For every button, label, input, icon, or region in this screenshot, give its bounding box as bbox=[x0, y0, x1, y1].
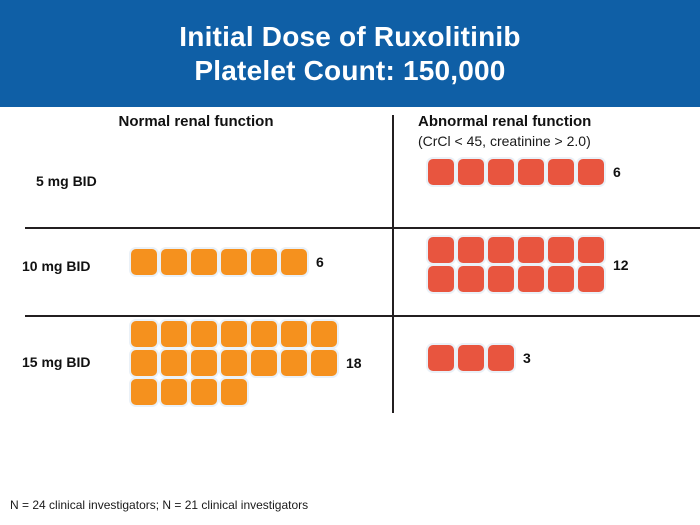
investigator-square bbox=[518, 266, 544, 292]
investigator-square bbox=[221, 249, 247, 275]
investigator-square bbox=[311, 350, 337, 376]
investigator-square bbox=[221, 321, 247, 347]
investigator-square bbox=[428, 159, 454, 185]
investigator-square bbox=[131, 350, 157, 376]
count-label-abnormal: 3 bbox=[523, 350, 531, 366]
square-grid-abnormal bbox=[428, 159, 604, 185]
row-label-dose: 5 mg BID bbox=[36, 173, 141, 189]
square-grid-abnormal bbox=[428, 237, 604, 292]
investigator-square bbox=[251, 321, 277, 347]
investigator-square bbox=[131, 379, 157, 405]
square-row bbox=[428, 345, 514, 371]
investigator-square bbox=[251, 249, 277, 275]
square-row bbox=[428, 237, 604, 263]
row-label-dose: 15 mg BID bbox=[22, 354, 127, 370]
square-row bbox=[131, 321, 337, 347]
table-row: 15 mg BID 18 3 bbox=[0, 317, 700, 417]
square-row bbox=[428, 159, 604, 185]
title-line-1: Initial Dose of Ruxolitinib bbox=[179, 20, 520, 54]
investigator-square bbox=[548, 266, 574, 292]
investigator-square bbox=[488, 237, 514, 263]
count-label-abnormal: 6 bbox=[613, 164, 621, 180]
investigator-square bbox=[428, 237, 454, 263]
investigator-square bbox=[488, 266, 514, 292]
investigator-square bbox=[161, 321, 187, 347]
investigator-square bbox=[131, 321, 157, 347]
investigator-square bbox=[281, 321, 307, 347]
investigator-square bbox=[161, 379, 187, 405]
pictogram-group-abnormal: 12 bbox=[428, 237, 629, 292]
count-label-abnormal: 12 bbox=[613, 257, 629, 273]
count-label-normal: 6 bbox=[316, 254, 324, 270]
investigator-square bbox=[191, 379, 217, 405]
investigator-square bbox=[311, 321, 337, 347]
investigator-square bbox=[548, 159, 574, 185]
table-row: 10 mg BID 6 12 bbox=[0, 229, 700, 315]
investigator-square bbox=[428, 345, 454, 371]
investigator-square bbox=[458, 237, 484, 263]
investigator-square bbox=[578, 237, 604, 263]
title-banner: Initial Dose of Ruxolitinib Platelet Cou… bbox=[0, 0, 700, 107]
investigator-square bbox=[161, 249, 187, 275]
investigator-square bbox=[191, 321, 217, 347]
pictogram-group-normal: 18 bbox=[131, 321, 362, 405]
square-grid-normal bbox=[131, 321, 337, 405]
square-row bbox=[428, 266, 604, 292]
investigator-square bbox=[578, 266, 604, 292]
investigator-square bbox=[518, 159, 544, 185]
investigator-square bbox=[458, 159, 484, 185]
square-grid-abnormal bbox=[428, 345, 514, 371]
square-row bbox=[131, 350, 337, 376]
investigator-square bbox=[221, 379, 247, 405]
investigator-square bbox=[191, 350, 217, 376]
investigator-square bbox=[488, 159, 514, 185]
investigator-square bbox=[458, 345, 484, 371]
investigator-square bbox=[458, 266, 484, 292]
pictogram-group-normal: 6 bbox=[131, 249, 324, 275]
investigator-square bbox=[281, 249, 307, 275]
square-row bbox=[131, 249, 307, 275]
title-line-2: Platelet Count: 150,000 bbox=[194, 54, 505, 88]
square-row bbox=[131, 379, 337, 405]
pictogram-table: Normal renal function Abnormal renal fun… bbox=[0, 107, 700, 417]
table-row: 5 mg BID 6 bbox=[0, 127, 700, 227]
investigator-square bbox=[488, 345, 514, 371]
count-label-normal: 18 bbox=[346, 355, 362, 371]
investigator-square bbox=[281, 350, 307, 376]
investigator-square bbox=[161, 350, 187, 376]
square-grid-normal bbox=[131, 249, 307, 275]
investigator-square bbox=[221, 350, 247, 376]
investigator-square bbox=[578, 159, 604, 185]
row-label-dose: 10 mg BID bbox=[22, 258, 127, 274]
investigator-square bbox=[518, 237, 544, 263]
investigator-square bbox=[251, 350, 277, 376]
pictogram-group-abnormal: 6 bbox=[428, 159, 621, 185]
investigator-square bbox=[191, 249, 217, 275]
investigator-square bbox=[428, 266, 454, 292]
pictogram-group-abnormal: 3 bbox=[428, 345, 531, 371]
investigator-square bbox=[131, 249, 157, 275]
investigator-square bbox=[548, 237, 574, 263]
footnote: N = 24 clinical investigators; N = 21 cl… bbox=[10, 498, 308, 512]
